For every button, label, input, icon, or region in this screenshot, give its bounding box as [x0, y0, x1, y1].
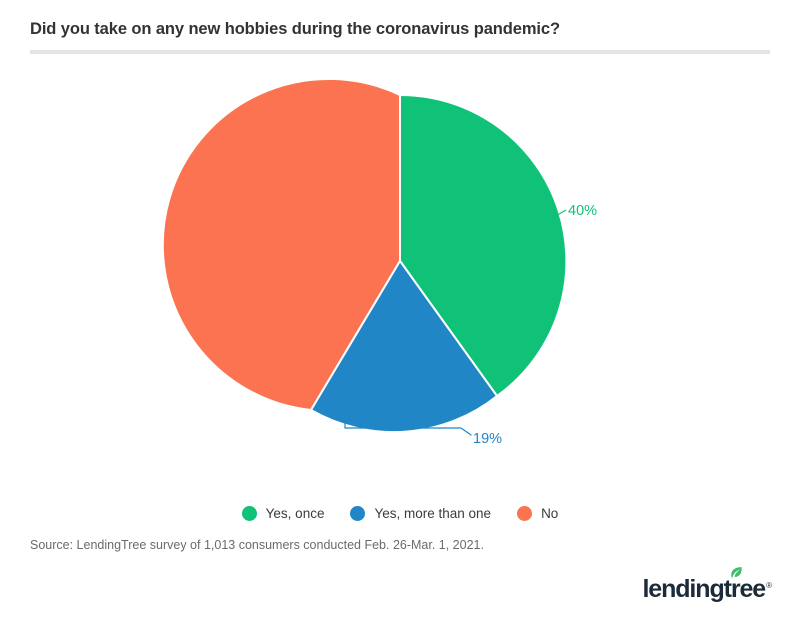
legend-label-yes-once: Yes, once — [266, 506, 325, 521]
leaf-icon — [728, 566, 743, 581]
pie-label-yes-more-than-one: 19% — [473, 431, 502, 447]
legend-item-yes-once[interactable]: Yes, once — [242, 506, 325, 521]
page-title: Did you take on any new hobbies during t… — [30, 20, 770, 39]
lendingtree-logo: lendingtree ® — [642, 568, 772, 602]
chart-legend: Yes, once Yes, more than one No — [0, 498, 800, 528]
legend-swatch-blue — [350, 506, 365, 521]
brand-wordmark: lendingtree — [642, 577, 765, 602]
pie-chart-area: 40% 41% 19% — [0, 60, 800, 480]
pie-chart-svg: 40% 41% 19% — [0, 60, 800, 480]
legend-item-no[interactable]: No — [517, 506, 558, 521]
chart-card: Did you take on any new hobbies during t… — [0, 0, 800, 618]
source-note: Source: LendingTree survey of 1,013 cons… — [30, 538, 484, 552]
pie-label-yes-once: 40% — [568, 203, 597, 219]
legend-label-no: No — [541, 506, 558, 521]
legend-swatch-coral — [517, 506, 532, 521]
legend-swatch-green — [242, 506, 257, 521]
legend-label-yes-more-than-one: Yes, more than one — [374, 506, 491, 521]
title-divider — [30, 50, 770, 54]
pie-label-no: 41% — [203, 204, 232, 220]
legend-item-yes-more-than-one[interactable]: Yes, more than one — [350, 506, 491, 521]
trademark-symbol: ® — [766, 581, 772, 590]
